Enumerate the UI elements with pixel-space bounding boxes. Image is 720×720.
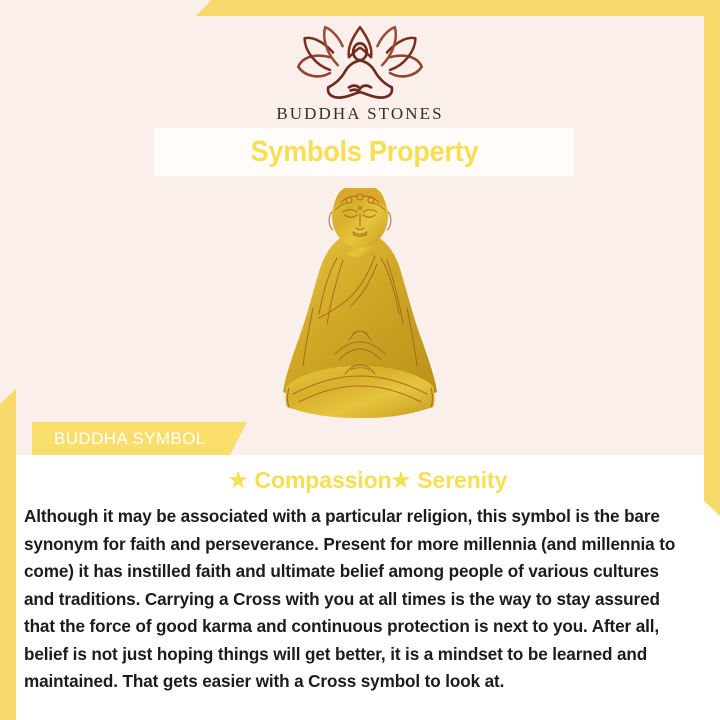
hero-image-wrap <box>16 188 704 426</box>
star-icon: ★ <box>229 469 248 492</box>
buddha-symbol-ribbon: BUDDHA SYMBOL <box>32 422 247 455</box>
ribbon-label: BUDDHA SYMBOL <box>32 429 206 449</box>
right-accent-bar <box>704 0 720 516</box>
left-accent-bar <box>0 389 16 720</box>
page-title: Symbols Property <box>250 136 478 169</box>
lotus-meditation-icon <box>280 24 440 100</box>
star-icon-2: ★ <box>392 469 411 492</box>
top-accent-bar <box>196 0 720 16</box>
brand-name: BUDDHA STONES <box>276 104 443 124</box>
brand-block: BUDDHA STONES <box>16 24 704 124</box>
trait-two-label: Serenity <box>417 467 507 493</box>
upper-panel: BUDDHA STONES Symbols Property <box>16 16 704 455</box>
seated-buddha-statue <box>277 188 443 426</box>
body-paragraph: Although it may be associated with a par… <box>24 503 692 696</box>
trait-headings: ★Compassion★Serenity <box>16 455 720 494</box>
trait-one-label: Compassion <box>255 467 392 493</box>
title-banner: Symbols Property <box>154 128 574 176</box>
lower-panel: ★Compassion★Serenity Although it may be … <box>16 455 720 720</box>
poster-root: BUDDHA STONES Symbols Property <box>0 0 720 720</box>
